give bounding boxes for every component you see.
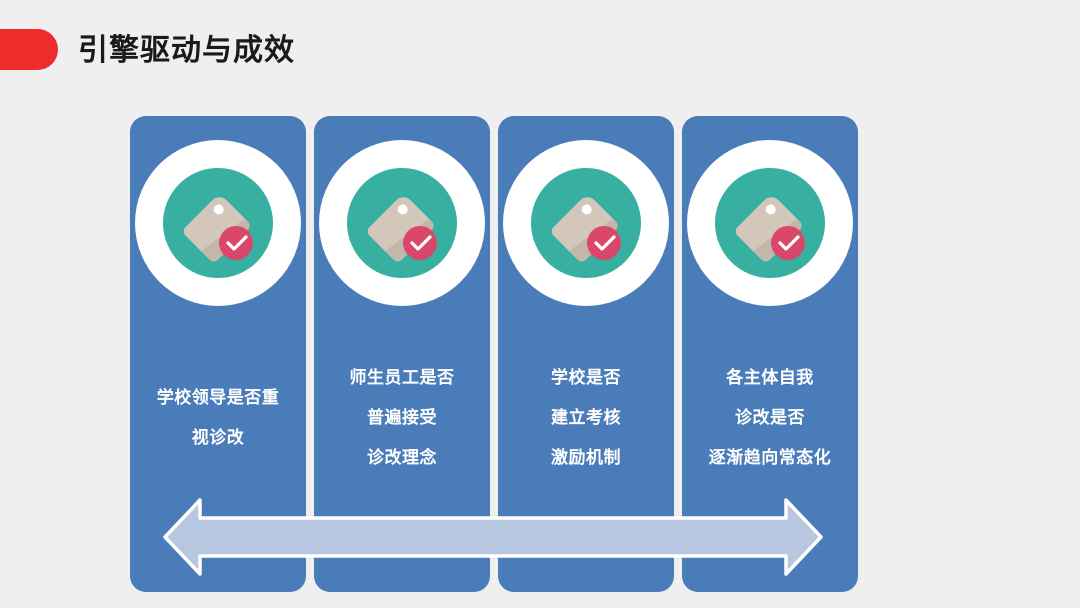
card-3[interactable]: 学校是否 建立考核 激励机制: [498, 116, 674, 592]
icon-disc: [715, 168, 825, 278]
card-3-line-1: 学校是否: [551, 358, 621, 398]
card-2-line-2: 普遍接受: [367, 398, 437, 438]
card-row: 学校领导是否重 视诊改 师生员工是否 普遍接受: [130, 116, 856, 592]
slide-header: 引擎驱动与成效: [0, 0, 1080, 100]
card-1-line-2: 视诊改: [192, 418, 245, 458]
tag-check-glyph: [347, 168, 457, 278]
header-accent-pill: [0, 29, 58, 70]
card-4[interactable]: 各主体自我 诊改是否 逐渐趋向常态化: [682, 116, 858, 592]
card-3-line-2: 建立考核: [551, 398, 621, 438]
card-2-text: 师生员工是否 普遍接受 诊改理念: [320, 334, 484, 588]
tag-check-glyph: [715, 168, 825, 278]
card-2-line-3: 诊改理念: [367, 438, 437, 478]
tag-check-icon: [503, 140, 669, 306]
page-title: 引擎驱动与成效: [78, 32, 295, 70]
tag-check-icon: [687, 140, 853, 306]
card-1[interactable]: 学校领导是否重 视诊改: [130, 116, 306, 592]
card-4-text: 各主体自我 诊改是否 逐渐趋向常态化: [688, 334, 852, 588]
card-3-text: 学校是否 建立考核 激励机制: [504, 334, 668, 588]
icon-disc: [163, 168, 273, 278]
card-3-line-3: 激励机制: [551, 438, 621, 478]
card-4-line-3: 逐渐趋向常态化: [709, 438, 832, 478]
card-1-text: 学校领导是否重 视诊改: [136, 334, 300, 608]
tag-check-glyph: [531, 168, 641, 278]
tag-check-glyph: [163, 168, 273, 278]
icon-disc: [531, 168, 641, 278]
card-4-line-2: 诊改是否: [735, 398, 805, 438]
icon-disc: [347, 168, 457, 278]
card-1-line-1: 学校领导是否重: [157, 378, 280, 418]
tag-check-icon: [135, 140, 301, 306]
tag-check-icon: [319, 140, 485, 306]
card-4-line-1: 各主体自我: [726, 358, 814, 398]
card-2[interactable]: 师生员工是否 普遍接受 诊改理念: [314, 116, 490, 592]
card-2-line-1: 师生员工是否: [350, 358, 455, 398]
